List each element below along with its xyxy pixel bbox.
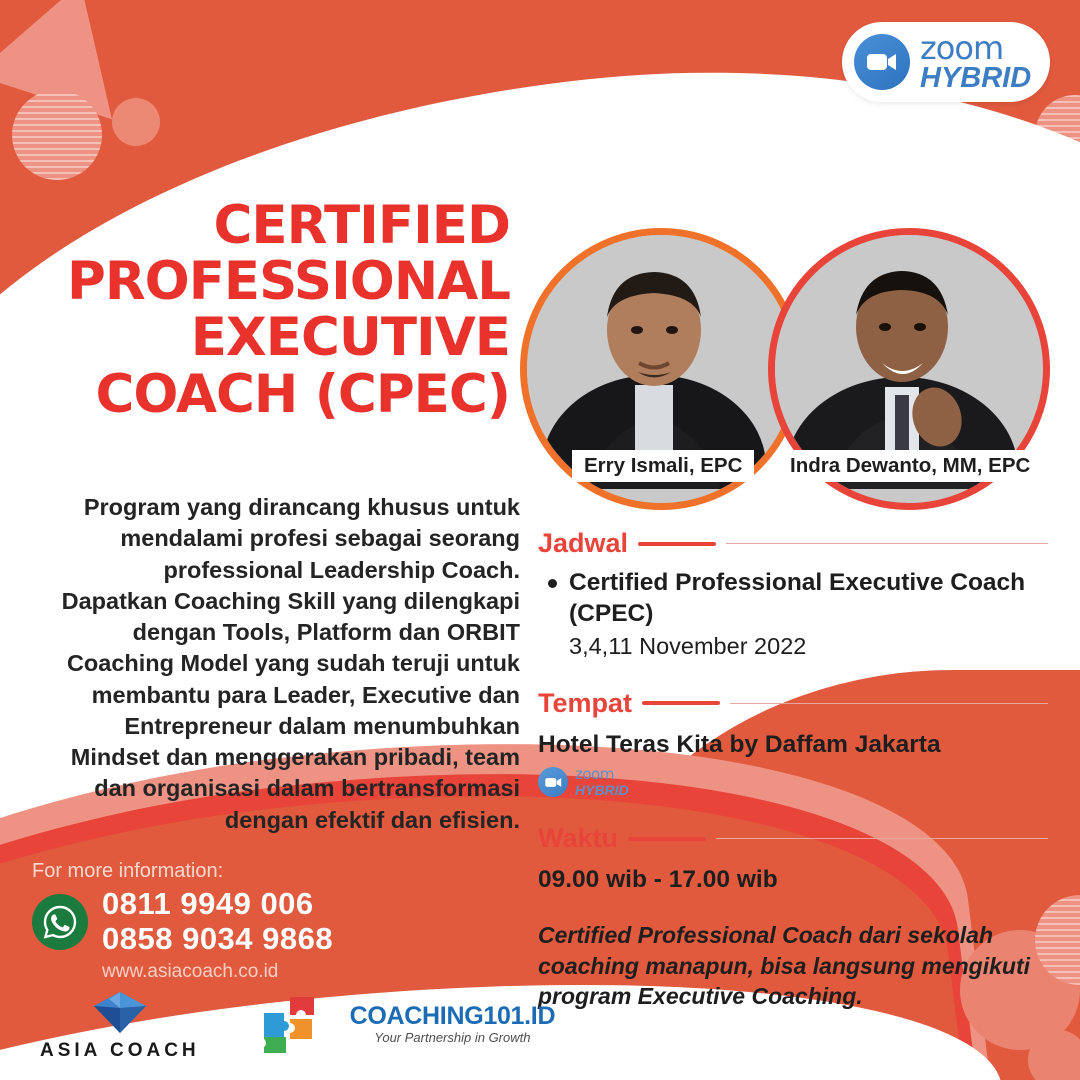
zoom-wordmark-small: zoom HYBRID <box>575 767 629 797</box>
zoom-hybrid-badge: zoom HYBRID <box>842 22 1050 102</box>
whatsapp-icon[interactable] <box>32 894 88 950</box>
waktu-section: Waktu 09.00 wib - 17.00 wib <box>538 823 1048 894</box>
coaching101-tagline: Your Partnership in Growth <box>350 1031 556 1045</box>
zoom-wordmark: zoom HYBRID <box>920 32 1031 93</box>
eligibility-note: Certified Professional Coach dari sekola… <box>538 920 1048 1011</box>
waktu-heading: Waktu <box>538 823 618 854</box>
bullet-dot-icon <box>548 579 557 588</box>
zoom-word-small: zoom <box>575 767 629 783</box>
tempat-rule-thin <box>730 703 1048 705</box>
jadwal-item-date: 3,4,11 November 2022 <box>569 631 1048 662</box>
phone-number-2[interactable]: 0858 9034 9868 <box>102 922 333 957</box>
zoom-camera-icon <box>854 34 910 90</box>
poster-canvas: zoom HYBRID CERTIFIED PROFESSIONAL EXECU… <box>0 0 1080 1080</box>
jadwal-heading: Jadwal <box>538 528 628 559</box>
zoom-hybrid-word: HYBRID <box>920 64 1031 93</box>
waktu-rule-thin <box>716 838 1048 840</box>
venue-zoom-hybrid-logo: zoom HYBRID <box>538 767 1048 797</box>
jadwal-item: Certified Professional Executive Coach (… <box>538 568 1048 662</box>
event-details: Jadwal Certified Professional Executive … <box>538 528 1048 1011</box>
jadwal-heading-row: Jadwal <box>538 528 1048 559</box>
coaching101-wordmark: COACHING101.ID Your Partnership in Growt… <box>350 1003 556 1045</box>
waktu-time: 09.00 wib - 17.00 wib <box>538 866 1048 894</box>
footer-logos: ASIA COACH COACHING101.ID Your Partnersh… <box>40 986 555 1062</box>
coaching101-name: COACHING101.ID <box>350 1003 556 1031</box>
title-line-4: COACH (CPEC) <box>40 367 510 423</box>
title-line-3: EXECUTIVE <box>40 310 510 366</box>
waktu-rule-thick <box>628 837 706 841</box>
coaching101-logo: COACHING101.ID Your Partnership in Growt… <box>260 991 556 1057</box>
zoom-camera-icon-small <box>538 767 568 797</box>
jadwal-section: Jadwal Certified Professional Executive … <box>538 528 1048 662</box>
diamond-icon <box>83 986 157 1036</box>
tempat-heading: Tempat <box>538 688 632 719</box>
zoom-hybrid-word-small: HYBRID <box>575 783 629 798</box>
asia-coach-text: ASIA COACH <box>40 1040 200 1062</box>
contact-label: For more information: <box>32 860 333 883</box>
tempat-rule-thick <box>642 701 720 705</box>
solid-circle-decoration-1 <box>112 98 160 146</box>
program-description: Program yang dirancang khusus untuk mend… <box>60 492 520 836</box>
jadwal-rule-thick <box>638 542 716 546</box>
title-line-2: PROFESSIONAL <box>40 254 510 310</box>
tempat-section: Tempat Hotel Teras Kita by Daffam Jakart… <box>538 688 1048 797</box>
contact-block: For more information: 0811 9949 006 0858… <box>32 860 333 983</box>
waktu-heading-row: Waktu <box>538 823 1048 854</box>
tempat-heading-row: Tempat <box>538 688 1048 719</box>
striped-circle-decoration-1 <box>12 90 102 180</box>
venue-name: Hotel Teras Kita by Daffam Jakarta <box>538 731 1048 759</box>
puzzle-icon <box>260 991 338 1057</box>
speaker-name-2: Indra Dewanto, MM, EPC <box>778 450 1042 482</box>
contact-row[interactable]: 0811 9949 006 0858 9034 9868 <box>32 887 333 956</box>
phone-number-1[interactable]: 0811 9949 006 <box>102 887 333 922</box>
website-url[interactable]: www.asiacoach.co.id <box>102 961 333 983</box>
phone-numbers: 0811 9949 006 0858 9034 9868 <box>102 887 333 956</box>
jadwal-rule-thin <box>726 543 1048 545</box>
title-line-1: CERTIFIED <box>40 198 510 254</box>
jadwal-item-title: Certified Professional Executive Coach (… <box>569 569 1025 627</box>
page-title: CERTIFIED PROFESSIONAL EXECUTIVE COACH (… <box>40 198 510 423</box>
zoom-word: zoom <box>920 32 1031 64</box>
asia-coach-logo: ASIA COACH <box>40 986 200 1062</box>
speaker-name-1: Erry Ismali, EPC <box>572 450 754 482</box>
